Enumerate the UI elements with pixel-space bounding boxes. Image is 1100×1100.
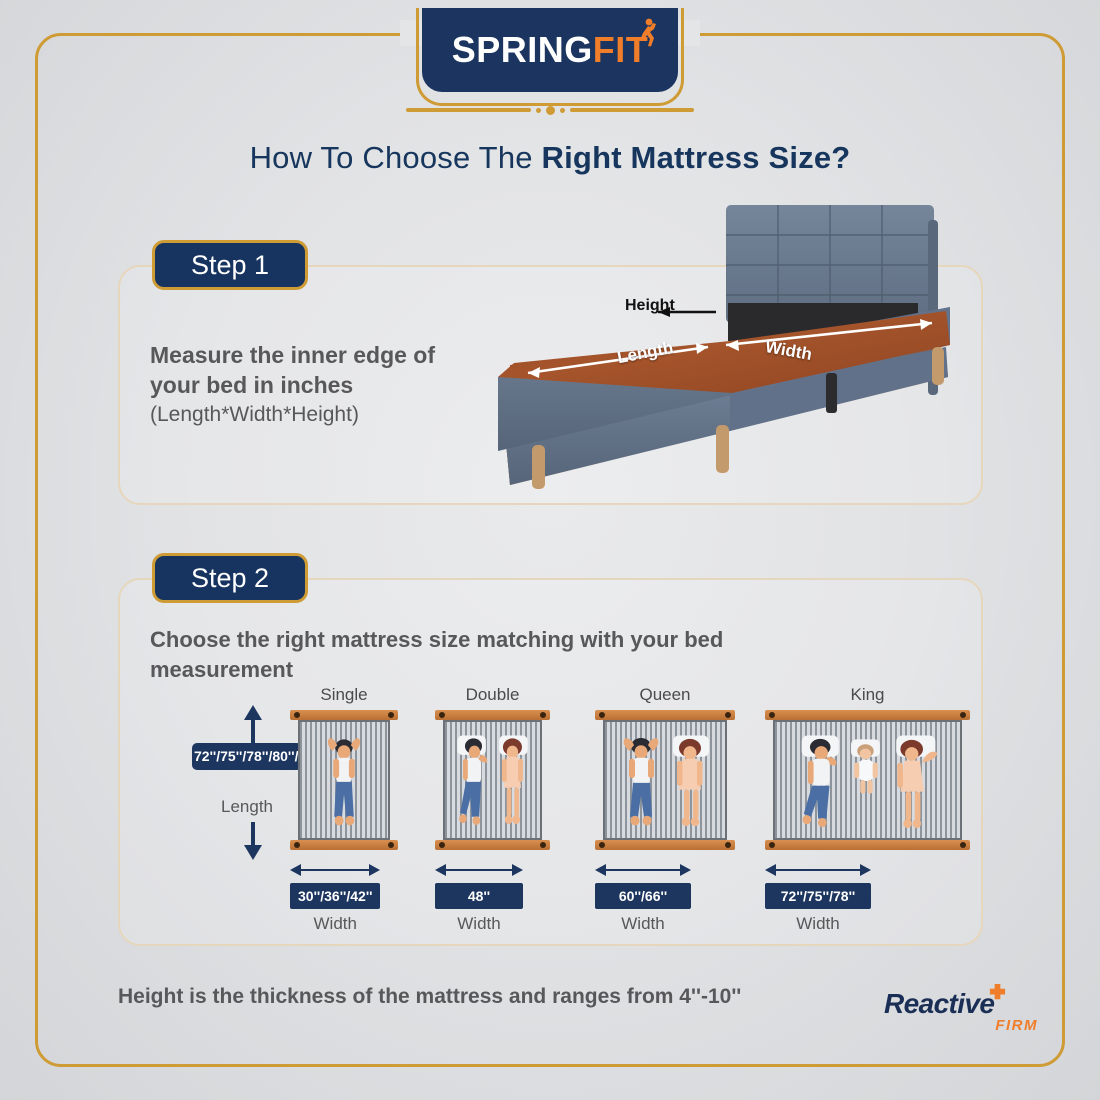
width-arrow-single [290,864,380,876]
figure-woman [677,739,703,826]
length-value-badge: 72''/75''/78''/80''/84'' [192,743,302,770]
width-value-king: 72''/75''/78'' [765,883,871,909]
size-column-single: Single [290,685,398,850]
length-caption: Length [192,797,302,817]
width-meter-king: 72''/75''/78'' Width [765,864,871,934]
orange-cross-icon [988,984,1007,1003]
step-1-badge: Step 1 [152,240,308,290]
size-label-queen: Queen [595,685,735,705]
bed-illustration [480,195,980,535]
figure-woman [897,740,937,828]
bed-leg-rear-mid [826,373,837,413]
width-arrow-queen [595,864,691,876]
bed-height-label: Height [625,297,675,315]
length-stem-top [251,719,255,743]
footer-note: Height is the thickness of the mattress … [118,985,858,1009]
size-label-double: Double [435,685,550,705]
page-title-regular: How To Choose The [250,140,542,175]
length-arrow-down-icon [244,845,262,860]
rule-segment-right [570,108,695,112]
size-column-queen: Queen [595,685,735,850]
mattress-rail-bottom [290,840,398,850]
mattress-surface [773,720,962,840]
rule-dot-large [546,106,555,115]
mattress-surface [603,720,727,840]
width-arrow-double [435,864,523,876]
occupant-figures-double [445,722,540,838]
bed-leg-front-right [716,425,729,473]
page-title: How To Choose The Right Mattress Size? [0,140,1100,176]
rule-dot-small-left [536,108,541,113]
mattress-size-comparison: 72''/75''/78''/80''/84'' Length Single [150,685,970,930]
rule-dot-small-right [560,108,565,113]
mattress-rail-top [595,710,735,720]
width-meter-queen: 60''/66'' Width [595,864,691,934]
figure-man [624,738,659,825]
size-label-single: Single [290,685,398,705]
mattress-card-single [290,710,398,850]
width-value-queen: 60''/66'' [595,883,691,909]
size-column-double: Double [435,685,550,850]
mattress-rail-top [765,710,970,720]
figure-woman [502,738,523,824]
mattress-rail-bottom [595,840,735,850]
mattress-rail-top [290,710,398,720]
width-caption-queen: Width [595,914,691,934]
size-label-king: King [765,685,970,705]
figure-man [328,738,360,825]
width-caption-double: Width [435,914,523,934]
width-caption-king: Width [765,914,871,934]
rule-segment-left [406,108,531,112]
mattress-card-queen [595,710,735,850]
width-value-double: 48'' [435,883,523,909]
running-figure-icon [637,18,657,48]
occupant-figures-single [300,722,388,838]
brand-logo: SPRINGFIT [416,8,684,106]
mattress-rail-bottom [765,840,970,850]
occupant-figures-queen [605,722,725,838]
mattress-card-king [765,710,970,850]
step-2-headline: Choose the right mattress size matching … [150,625,870,686]
bed-leg-front-left [532,445,545,489]
mattress-card-double [435,710,550,850]
length-meter: 72''/75''/78''/80''/84'' Length [192,705,302,860]
mattress-surface [443,720,542,840]
reactive-text-part1: React [884,988,957,1019]
width-arrow-king [765,864,871,876]
size-column-king: King [765,685,970,850]
width-meter-single: 30''/36''/42'' Width [290,864,380,934]
step-1-headline: Measure the inner edge of your bed in in… [150,340,480,401]
width-meter-double: 48'' Width [435,864,523,934]
reactive-firm-logo: Reactive FIRM [884,990,1044,1046]
length-arrow-up-icon [244,705,262,720]
reactive-wordmark: Reactive [884,990,1044,1018]
step-2-badge: Step 2 [152,553,308,603]
occupant-figures-king [775,722,960,838]
mattress-rail-bottom [435,840,550,850]
step-1-subtext: (Length*Width*Height) [150,401,480,429]
step-1-text: Measure the inner edge of your bed in in… [150,340,480,428]
logo-spring-text: SPRING [452,29,593,70]
mattress-surface [298,720,390,840]
page-title-bold: Right Mattress Size? [542,140,851,175]
bed-leg-rear-right [932,347,944,385]
logo-navy-plate: SPRINGFIT [422,8,678,92]
mattress-rail-top [435,710,550,720]
length-stem-bottom [251,822,255,846]
width-caption-single: Width [290,914,380,934]
firm-text: FIRM [995,1017,1038,1034]
gold-dotted-rule [406,104,694,116]
width-value-single: 30''/36''/42'' [290,883,380,909]
